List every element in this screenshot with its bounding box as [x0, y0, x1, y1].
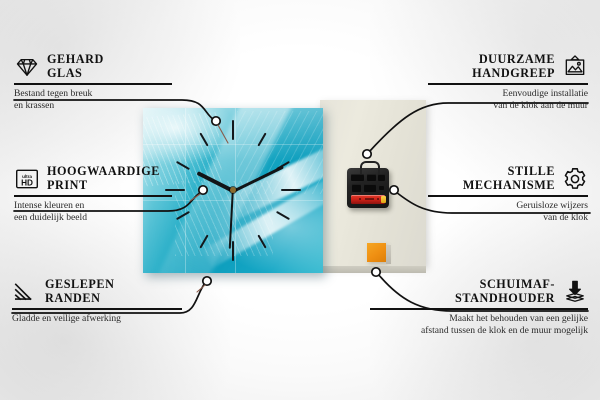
feature-heading: STILLE MECHANISME: [428, 165, 588, 192]
feature-schuimaf-standhouder: SCHUIMAF- STANDHOUDER Maakt het behouden…: [370, 278, 588, 336]
feature-title: GESLEPEN RANDEN: [45, 278, 114, 305]
feature-heading: GEHARD GLAS: [14, 53, 172, 80]
beveled-edges-icon: [12, 279, 38, 305]
feature-description: Maakt het behouden van een gelijke afsta…: [370, 313, 588, 336]
feature-title: DUURZAME HANDGREEP: [428, 53, 555, 80]
movement-slot-3: [378, 174, 385, 181]
minute-hand: [232, 165, 284, 193]
title-underline: [14, 195, 172, 197]
infographic-canvas: GEHARD GLAS Bestand tegen breuk en krass…: [0, 0, 600, 400]
hour-marker-8: [176, 211, 190, 220]
movement-slot-6: [379, 185, 384, 190]
title-underline: [14, 83, 172, 85]
feature-description: Bestand tegen breuk en krassen: [14, 88, 172, 111]
battery: [351, 195, 385, 204]
feature-geslepen-randen: GESLEPEN RANDEN Gladde en veilige afwerk…: [12, 278, 182, 325]
reflection-block-1: [185, 108, 235, 144]
hanging-loop-icon: [360, 161, 380, 175]
ultra-hd-icon: ultra HD: [14, 166, 40, 192]
diamond-icon: [14, 54, 40, 80]
feature-heading: GESLEPEN RANDEN: [12, 278, 182, 305]
feature-heading: DUURZAME HANDGREEP: [428, 53, 588, 80]
gear-icon: [562, 166, 588, 192]
battery-band-2: [365, 198, 374, 200]
movement-slot-4: [352, 184, 361, 192]
hour-marker-12: [232, 120, 234, 140]
feature-gehard-glas: GEHARD GLAS Bestand tegen breuk en krass…: [14, 53, 172, 111]
feature-heading: ultra HD HOOGWAARDIGE PRINT: [14, 165, 172, 192]
movement-slot-5: [364, 184, 376, 192]
light-streak-4: [202, 173, 323, 269]
title-underline: [370, 308, 588, 310]
feature-stille-mechanisme: STILLE MECHANISME Geruisloze wijzers van…: [428, 165, 588, 223]
hour-marker-6: [232, 241, 234, 261]
foam-spacer: [367, 243, 386, 262]
battery-band-3: [377, 198, 379, 200]
feature-duurzame-handgreep: DUURZAME HANDGREEP Eenvoudige installati…: [428, 53, 588, 111]
movement-slot-2: [367, 174, 376, 181]
feature-title: GEHARD GLAS: [47, 53, 104, 80]
title-underline: [428, 83, 588, 85]
picture-frame-icon: [562, 54, 588, 80]
feature-heading: SCHUIMAF- STANDHOUDER: [370, 278, 588, 305]
hour-hand: [196, 171, 233, 193]
down-arrow-stack-icon: [562, 279, 588, 305]
hour-marker-4: [276, 211, 290, 220]
feature-description: Gladde en veilige afwerking: [12, 313, 182, 325]
hd-label: HD: [21, 178, 33, 187]
hour-marker-7: [199, 235, 208, 249]
feature-title: STILLE MECHANISME: [428, 165, 555, 192]
title-underline: [428, 195, 588, 197]
clock-hands-hub: [230, 187, 236, 193]
feature-hoogwaardige-print: ultra HD HOOGWAARDIGE PRINT Intense kleu…: [14, 165, 172, 223]
battery-band-1: [359, 198, 361, 200]
hour-marker-3: [281, 189, 301, 191]
feature-title: HOOGWAARDIGE PRINT: [47, 165, 160, 192]
title-underline: [12, 308, 182, 310]
hour-marker-5: [257, 235, 266, 249]
feather-texture-bottom: [175, 181, 272, 257]
feature-description: Intense kleuren en een duidelijk beeld: [14, 200, 172, 223]
feature-description: Geruisloze wijzers van de klok: [428, 200, 588, 223]
quartz-movement: [347, 168, 389, 208]
movement-slot-1: [351, 174, 364, 181]
feature-title: SCHUIMAF- STANDHOUDER: [370, 278, 555, 305]
feature-description: Eenvoudige installatie van de klok aan d…: [428, 88, 588, 111]
